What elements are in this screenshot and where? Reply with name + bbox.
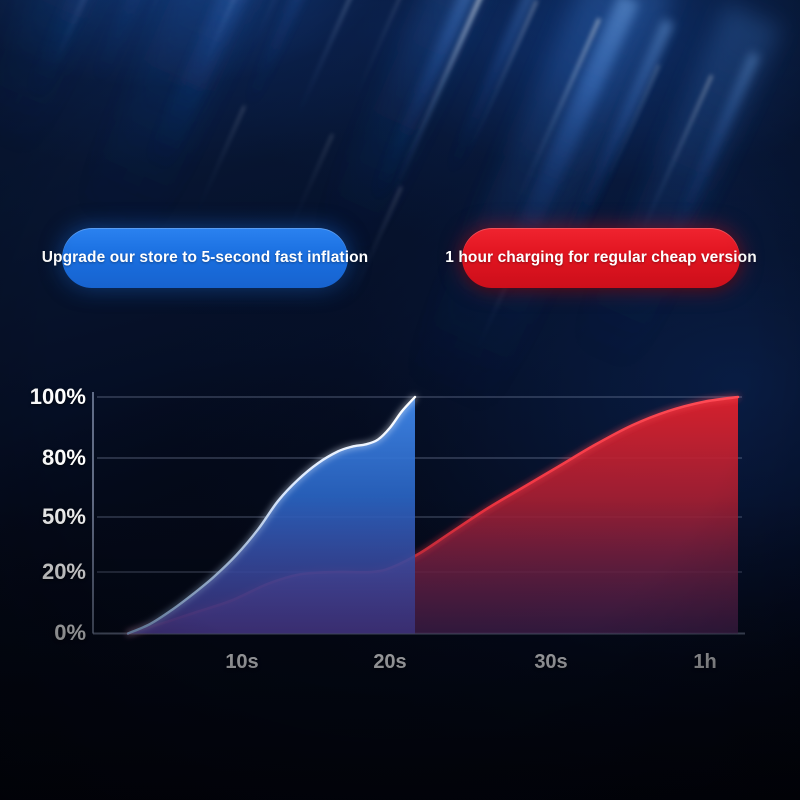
y-tick-20: 20% (42, 561, 86, 583)
charging-speed-chart: 100% 80% 50% 20% 0% 10s 20s 30s 1h (0, 330, 800, 690)
y-axis-tick-labels: 100% 80% 50% 20% 0% (0, 330, 86, 690)
y-tick-50: 50% (42, 506, 86, 528)
x-tick-1h: 1h (693, 652, 716, 672)
x-tick-30s: 30s (534, 652, 567, 672)
legend-pill-fast-charge[interactable]: Upgrade our store to 5-second fast infla… (62, 228, 348, 288)
y-tick-80: 80% (42, 447, 86, 469)
y-tick-0: 0% (54, 622, 86, 644)
y-tick-100: 100% (30, 386, 86, 408)
chart-canvas (0, 330, 800, 690)
poster-root: Upgrade our store to 5-second fast infla… (0, 0, 800, 800)
series-area-fast (128, 397, 415, 634)
x-tick-10s: 10s (225, 652, 258, 672)
legend-pill-regular-charge[interactable]: 1 hour charging for regular cheap versio… (462, 228, 740, 288)
x-tick-20s: 20s (373, 652, 406, 672)
